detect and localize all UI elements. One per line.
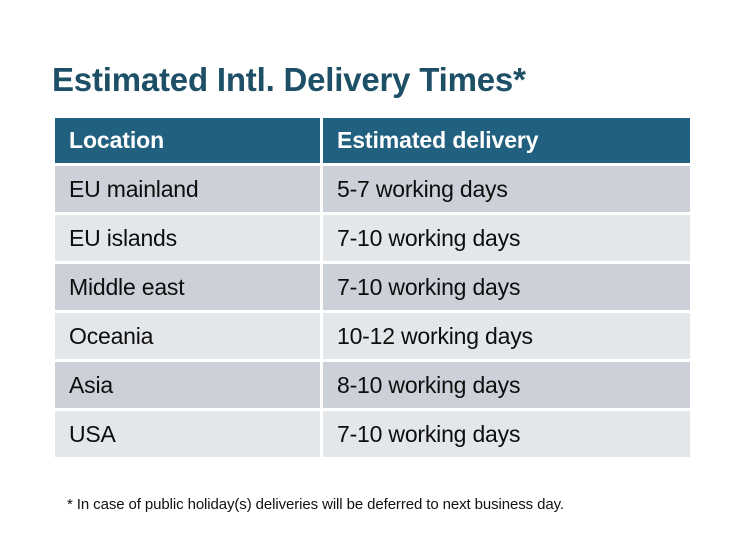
table-row: EU mainland 5-7 working days [55, 166, 690, 212]
cell-estimated-delivery: 8-10 working days [323, 362, 690, 408]
cell-location: Oceania [55, 313, 320, 359]
cell-estimated-delivery: 5-7 working days [323, 166, 690, 212]
page-title: Estimated Intl. Delivery Times* [52, 60, 526, 100]
table-row: Middle east 7-10 working days [55, 264, 690, 310]
estimated-delivery-times-table: Location Estimated delivery EU mainland … [52, 115, 693, 460]
table-row: USA 7-10 working days [55, 411, 690, 457]
column-header-location: Location [55, 118, 320, 163]
cell-estimated-delivery: 7-10 working days [323, 411, 690, 457]
cell-location: EU islands [55, 215, 320, 261]
cell-estimated-delivery: 7-10 working days [323, 215, 690, 261]
cell-location: Asia [55, 362, 320, 408]
table-header: Location Estimated delivery [55, 118, 690, 163]
cell-estimated-delivery: 7-10 working days [323, 264, 690, 310]
cell-location: USA [55, 411, 320, 457]
table-row: Asia 8-10 working days [55, 362, 690, 408]
cell-location: Middle east [55, 264, 320, 310]
table-header-row: Location Estimated delivery [55, 118, 690, 163]
cell-estimated-delivery: 10-12 working days [323, 313, 690, 359]
footnote-text: * In case of public holiday(s) deliverie… [67, 495, 564, 515]
delivery-times-page: Estimated Intl. Delivery Times* Location… [0, 0, 745, 536]
column-header-estimated-delivery: Estimated delivery [323, 118, 690, 163]
table-row: Oceania 10-12 working days [55, 313, 690, 359]
table-body: EU mainland 5-7 working days EU islands … [55, 166, 690, 457]
cell-location: EU mainland [55, 166, 320, 212]
table-row: EU islands 7-10 working days [55, 215, 690, 261]
